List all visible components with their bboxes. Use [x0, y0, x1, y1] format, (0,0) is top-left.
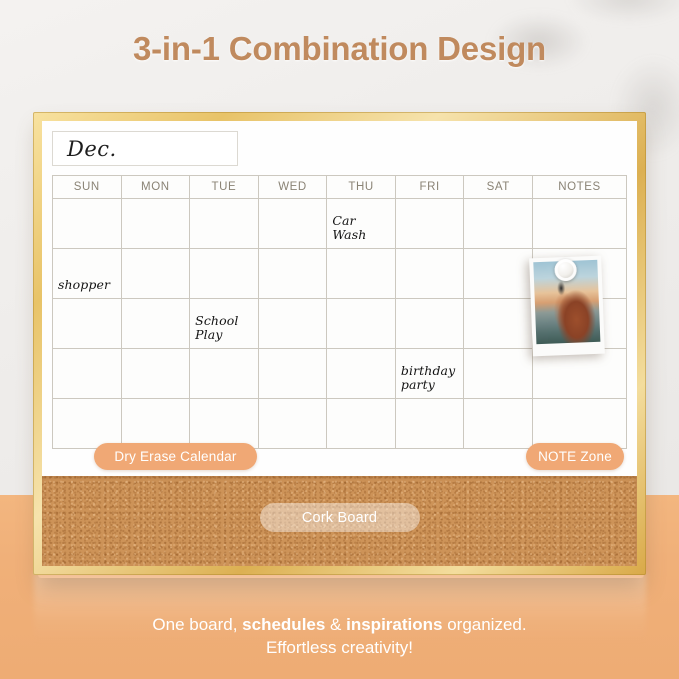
- day-header-wed: WED: [259, 176, 328, 199]
- month-label: Dec.: [67, 137, 117, 161]
- entry-school-play: School Play: [195, 314, 256, 344]
- cell-r3-tue[interactable]: School Play: [190, 299, 259, 349]
- cell-r2-fri[interactable]: [396, 249, 465, 299]
- cell-r1-sun[interactable]: [53, 199, 122, 249]
- cell-r4-sun[interactable]: [53, 349, 122, 399]
- cell-r5-fri[interactable]: [396, 399, 465, 449]
- page-title: 3-in-1 Combination Design: [0, 30, 679, 68]
- cell-r3-mon[interactable]: [122, 299, 191, 349]
- cell-r3-sat[interactable]: [464, 299, 533, 349]
- pinned-photo[interactable]: [529, 256, 605, 357]
- cell-r2-sat[interactable]: [464, 249, 533, 299]
- day-header-mon: MON: [122, 176, 191, 199]
- tagline-bold-schedules: schedules: [242, 615, 325, 634]
- dry-erase-calendar-badge: Dry Erase Calendar: [94, 443, 257, 470]
- tagline-text-1: One board,: [152, 615, 242, 634]
- cell-r5-sun[interactable]: [53, 399, 122, 449]
- cell-r4-mon[interactable]: [122, 349, 191, 399]
- cell-r2-mon[interactable]: [122, 249, 191, 299]
- tagline-line-1: One board, schedules & inspirations orga…: [0, 614, 679, 637]
- entry-car-wash: Car Wash: [332, 214, 393, 244]
- cell-r5-tue[interactable]: [190, 399, 259, 449]
- notes-r1[interactable]: [533, 199, 627, 249]
- notes-r4[interactable]: [533, 349, 627, 399]
- tagline-bold-inspirations: inspirations: [346, 615, 442, 634]
- cell-r1-thu[interactable]: Car Wash: [327, 199, 396, 249]
- note-zone-badge: NOTE Zone: [526, 443, 624, 470]
- day-header-fri: FRI: [396, 176, 465, 199]
- cell-r2-sun[interactable]: shopper: [53, 249, 122, 299]
- product-marketing-image: 3-in-1 Combination Design Dec. SUN MON T…: [0, 0, 679, 679]
- combination-board: Dec. SUN MON TUE WED THU FRI SAT NOTES: [33, 112, 646, 575]
- cell-r3-sun[interactable]: [53, 299, 122, 349]
- cell-r4-wed[interactable]: [259, 349, 328, 399]
- cell-r1-mon[interactable]: [122, 199, 191, 249]
- cell-r5-sat[interactable]: [464, 399, 533, 449]
- cell-r5-mon[interactable]: [122, 399, 191, 449]
- cell-r1-sat[interactable]: [464, 199, 533, 249]
- month-field[interactable]: Dec.: [52, 131, 238, 166]
- cell-r1-tue[interactable]: [190, 199, 259, 249]
- cell-r3-thu[interactable]: [327, 299, 396, 349]
- cell-r4-sat[interactable]: [464, 349, 533, 399]
- day-header-sat: SAT: [464, 176, 533, 199]
- cork-board-badge: Cork Board: [260, 503, 420, 532]
- day-header-sun: SUN: [53, 176, 122, 199]
- cell-r1-fri[interactable]: [396, 199, 465, 249]
- cell-r4-tue[interactable]: [190, 349, 259, 399]
- tagline-text-2: &: [325, 615, 346, 634]
- cell-r2-wed[interactable]: [259, 249, 328, 299]
- cell-r5-wed[interactable]: [259, 399, 328, 449]
- cell-r3-fri[interactable]: [396, 299, 465, 349]
- notes-header: NOTES: [533, 176, 627, 199]
- cell-r2-tue[interactable]: [190, 249, 259, 299]
- tagline: One board, schedules & inspirations orga…: [0, 614, 679, 660]
- cell-r2-thu[interactable]: [327, 249, 396, 299]
- cell-r1-wed[interactable]: [259, 199, 328, 249]
- day-header-tue: TUE: [190, 176, 259, 199]
- board-inner-surface: Dec. SUN MON TUE WED THU FRI SAT NOTES: [42, 121, 637, 566]
- notes-r5[interactable]: [533, 399, 627, 449]
- tagline-text-3: organized.: [442, 615, 526, 634]
- tagline-line-2: Effortless creativity!: [0, 637, 679, 660]
- day-header-thu: THU: [327, 176, 396, 199]
- cell-r3-wed[interactable]: [259, 299, 328, 349]
- entry-birthday-party: birthday party: [401, 364, 462, 394]
- cell-r4-fri[interactable]: birthday party: [396, 349, 465, 399]
- cell-r5-thu[interactable]: [327, 399, 396, 449]
- cell-r4-thu[interactable]: [327, 349, 396, 399]
- entry-shopper: shopper: [58, 278, 119, 293]
